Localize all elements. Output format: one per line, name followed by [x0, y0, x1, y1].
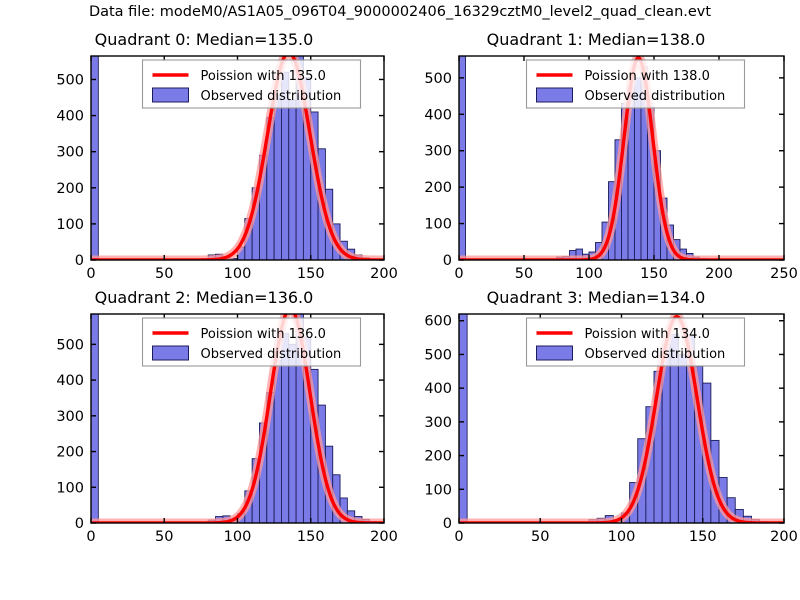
y-tick-label: 200 — [56, 445, 84, 461]
legend-model-label: Poission with 138.0 — [585, 69, 710, 84]
x-tick-label: 100 — [608, 529, 636, 545]
legend[interactable]: Poission with 135.0Observed distribution — [143, 60, 361, 108]
legend-observed-patch-swatch — [153, 346, 189, 360]
panel-quadrant-3: Quadrant 3: Median=134.0 050100150200010… — [400, 288, 792, 553]
x-tick-label: 150 — [297, 529, 325, 545]
legend-model-label: Poission with 135.0 — [201, 69, 326, 84]
y-tick-label: 400 — [56, 109, 84, 125]
histogram-bar — [91, 0, 98, 260]
panel-quadrant-0: Quadrant 0: Median=135.0 050100150200010… — [16, 30, 392, 288]
panel-quadrant-1: Quadrant 1: Median=138.0 050100150200250… — [400, 30, 792, 288]
plot-area[interactable]: 0501001502000100200300400500Poission wit… — [16, 288, 392, 553]
y-tick-label: 200 — [424, 180, 452, 196]
y-tick-label: 100 — [424, 482, 452, 498]
y-tick-label: 300 — [424, 415, 452, 431]
x-tick-label: 50 — [155, 529, 173, 545]
y-tick-label: 300 — [424, 144, 452, 160]
y-tick-label: 500 — [424, 71, 452, 87]
x-tick-label: 50 — [531, 529, 549, 545]
y-tick-label: 300 — [56, 409, 84, 425]
legend-observed-patch-swatch — [537, 88, 573, 102]
legend-observed-label: Observed distribution — [585, 347, 726, 362]
x-tick-label: 100 — [224, 266, 252, 282]
legend-model-label: Poission with 136.0 — [201, 327, 326, 342]
y-tick-label: 100 — [424, 217, 452, 233]
x-tick-label: 100 — [224, 529, 252, 545]
x-tick-label: 50 — [515, 266, 533, 282]
y-tick-label: 600 — [424, 314, 452, 330]
x-tick-label: 200 — [370, 266, 398, 282]
x-tick-label: 0 — [454, 266, 463, 282]
x-tick-label: 0 — [86, 266, 95, 282]
y-tick-label: 400 — [424, 381, 452, 397]
y-tick-label: 500 — [56, 72, 84, 88]
y-tick-label: 500 — [56, 337, 84, 353]
legend[interactable]: Poission with 134.0Observed distribution — [527, 318, 745, 366]
y-tick-label: 400 — [424, 107, 452, 123]
histogram-bar — [289, 100, 296, 260]
y-tick-label: 400 — [56, 373, 84, 389]
plot-area[interactable]: 0501001502000100200300400500600Poission … — [400, 288, 792, 553]
x-tick-label: 0 — [86, 529, 95, 545]
histogram-bar — [459, 0, 466, 260]
x-tick-label: 200 — [770, 529, 798, 545]
x-tick-label: 50 — [155, 266, 173, 282]
y-tick-label: 100 — [56, 217, 84, 233]
legend-observed-patch-swatch — [537, 346, 573, 360]
y-tick-label: 200 — [424, 449, 452, 465]
histogram-bar — [274, 96, 281, 260]
x-tick-label: 150 — [689, 529, 717, 545]
y-tick-label: 0 — [443, 516, 452, 532]
histogram-bar — [289, 344, 296, 523]
y-tick-label: 0 — [75, 253, 84, 269]
figure-root: Data file: modeM0/AS1A05_096T04_90000024… — [0, 0, 800, 600]
x-tick-label: 150 — [640, 266, 668, 282]
legend-observed-label: Observed distribution — [201, 89, 342, 104]
legend-observed-label: Observed distribution — [585, 89, 726, 104]
x-tick-label: 200 — [705, 266, 733, 282]
y-tick-label: 100 — [56, 480, 84, 496]
figure-title: Data file: modeM0/AS1A05_096T04_90000024… — [0, 4, 800, 20]
y-tick-label: 0 — [443, 253, 452, 269]
histogram-bar — [678, 354, 686, 523]
x-tick-label: 250 — [770, 266, 798, 282]
legend[interactable]: Poission with 136.0Observed distribution — [143, 318, 361, 366]
legend-observed-label: Observed distribution — [201, 347, 342, 362]
plot-area[interactable]: 0501001502000100200300400500Poission wit… — [16, 30, 392, 288]
y-tick-label: 300 — [56, 145, 84, 161]
legend-model-label: Poission with 134.0 — [585, 327, 710, 342]
plot-area[interactable]: 0501001502002500100200300400500Poission … — [400, 30, 792, 288]
y-tick-label: 500 — [424, 347, 452, 363]
legend[interactable]: Poission with 138.0Observed distribution — [527, 60, 745, 108]
x-tick-label: 150 — [297, 266, 325, 282]
legend-observed-patch-swatch — [153, 88, 189, 102]
y-tick-label: 0 — [75, 516, 84, 532]
x-tick-label: 100 — [575, 266, 603, 282]
x-tick-label: 200 — [370, 529, 398, 545]
x-tick-label: 0 — [454, 529, 463, 545]
panel-quadrant-2: Quadrant 2: Median=136.0 050100150200010… — [16, 288, 392, 553]
y-tick-label: 200 — [56, 181, 84, 197]
